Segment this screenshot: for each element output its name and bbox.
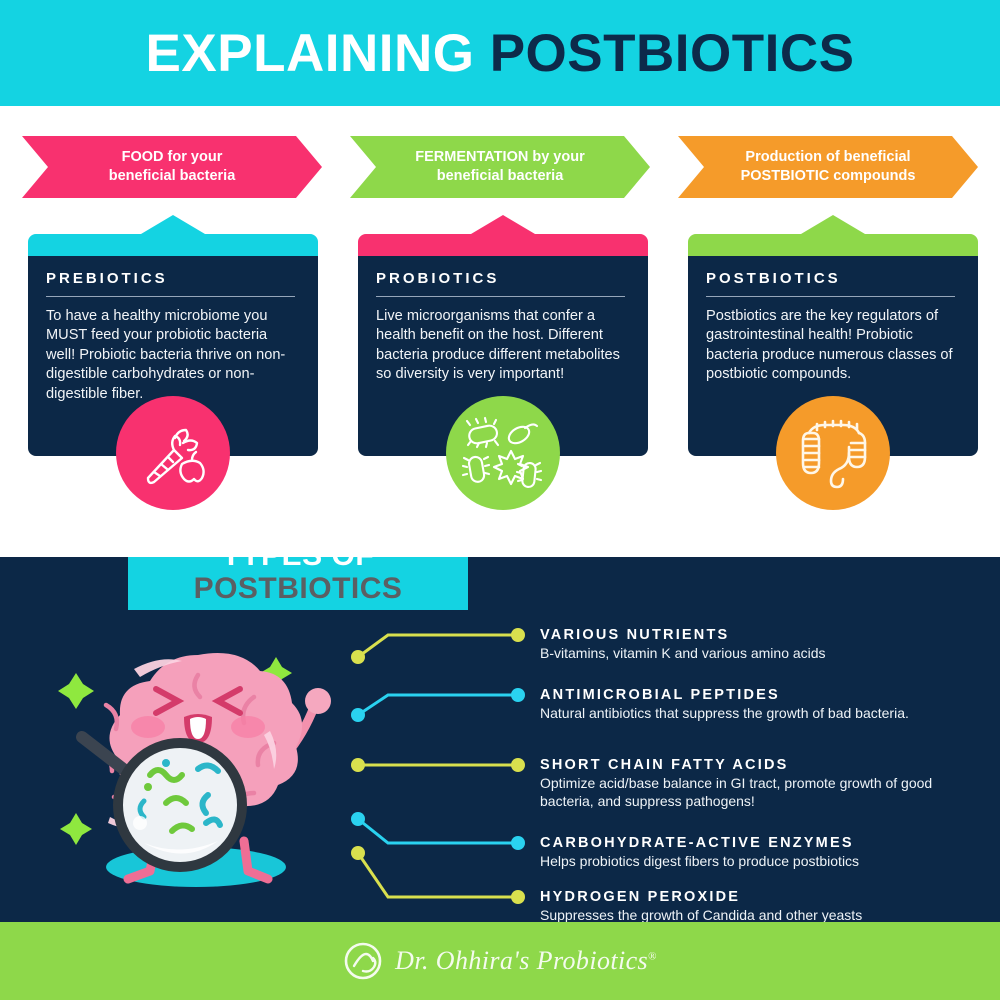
list-item-hydrogen-peroxide: HYDROGEN PEROXIDE Suppresses the growth … xyxy=(540,889,862,922)
list-item-title: VARIOUS NUTRIENTS xyxy=(540,627,826,643)
card-accent-bar xyxy=(28,234,318,256)
list-item-various-nutrients: VARIOUS NUTRIENTS B-vitamins, vitamin K … xyxy=(540,627,826,663)
brand-lockup: Dr. Ohhira's Probiotics® xyxy=(343,941,657,981)
banner-fermentation-line2: beneficial bacteria xyxy=(415,167,584,186)
banner-food-line1: FOOD for your xyxy=(109,148,236,167)
card-accent-bar xyxy=(358,234,648,256)
registered-mark: ® xyxy=(648,950,657,962)
types-title-line1: TYPES OF xyxy=(222,557,374,571)
card-divider xyxy=(706,296,955,297)
banner-production-line2: POSTBIOTIC compounds xyxy=(741,167,916,186)
page-title: EXPLAINING POSTBIOTICS xyxy=(146,23,855,84)
types-of-postbiotics-section: TYPES OF POSTBIOTICS xyxy=(0,557,1000,922)
card-tab-icon xyxy=(471,215,535,234)
carrot-apple-icon xyxy=(116,396,230,510)
brand-name: Dr. Ohhira's Probiotics® xyxy=(395,946,657,976)
card-text: Postbiotics are the key regulators of ga… xyxy=(706,307,960,385)
card-text: Live microorganisms that confer a health… xyxy=(376,307,630,385)
intestine-icon xyxy=(776,396,890,510)
types-title-line2: POSTBIOTICS xyxy=(194,574,403,604)
brand-name-text: Dr. Ohhira's Probiotics xyxy=(395,946,648,975)
list-item-short-chain-fatty-acids: SHORT CHAIN FATTY ACIDS Optimize acid/ba… xyxy=(540,757,970,811)
list-item-desc: B-vitamins, vitamin K and various amino … xyxy=(540,645,826,663)
list-item-desc: Optimize acid/base balance in GI tract, … xyxy=(540,775,970,811)
list-item-title: ANTIMICROBIAL PEPTIDES xyxy=(540,687,909,703)
banner-production-line1: Production of beneficial xyxy=(741,148,916,167)
page-title-light: EXPLAINING xyxy=(146,24,475,83)
banner-production: Production of beneficial POSTBIOTIC comp… xyxy=(678,136,978,198)
dr-ohhira-logo-icon xyxy=(343,941,383,981)
card-title: PROBIOTICS xyxy=(376,270,630,287)
card-tab-icon xyxy=(801,215,865,234)
banner-food-line2: beneficial bacteria xyxy=(109,167,236,186)
list-item-desc: Helps probiotics digest fibers to produc… xyxy=(540,853,859,871)
list-item-title: CARBOHYDRATE-ACTIVE ENZYMES xyxy=(540,835,859,851)
card-accent-bar xyxy=(688,234,978,256)
banner-food: FOOD for your beneficial bacteria xyxy=(22,136,322,198)
list-item-desc: Suppresses the growth of Candida and oth… xyxy=(540,907,862,922)
list-item-carbohydrate-active-enzymes: CARBOHYDRATE-ACTIVE ENZYMES Helps probio… xyxy=(540,835,859,871)
card-divider xyxy=(46,296,295,297)
banner-fermentation-line1: FERMENTATION by your xyxy=(415,148,584,167)
page-header: EXPLAINING POSTBIOTICS xyxy=(0,0,1000,106)
banner-fermentation: FERMENTATION by your beneficial bacteria xyxy=(350,136,650,198)
card-tab-icon xyxy=(141,215,205,234)
list-item-title: HYDROGEN PEROXIDE xyxy=(540,889,862,905)
types-title-box: TYPES OF POSTBIOTICS xyxy=(128,557,468,610)
bacteria-icon xyxy=(446,396,560,510)
list-item-desc: Natural antibiotics that suppress the gr… xyxy=(540,705,909,723)
page-title-dark: POSTBIOTICS xyxy=(490,24,855,83)
card-text: To have a healthy microbiome you MUST fe… xyxy=(46,307,300,404)
card-title: PREBIOTICS xyxy=(46,270,300,287)
brain-magnifier-character-icon xyxy=(48,635,338,905)
card-divider xyxy=(376,296,625,297)
list-item-title: SHORT CHAIN FATTY ACIDS xyxy=(540,757,970,773)
card-title: POSTBIOTICS xyxy=(706,270,960,287)
list-item-antimicrobial-peptides: ANTIMICROBIAL PEPTIDES Natural antibioti… xyxy=(540,687,909,723)
infographic-page: EXPLAINING POSTBIOTICS FOOD for your ben… xyxy=(0,0,1000,1000)
page-footer: Dr. Ohhira's Probiotics® xyxy=(0,922,1000,1000)
